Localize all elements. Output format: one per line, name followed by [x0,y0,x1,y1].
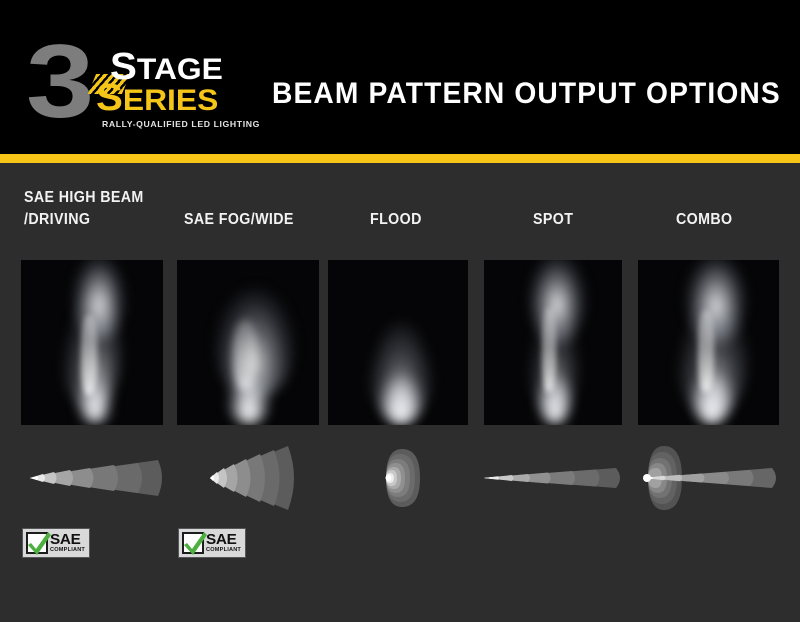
beam-pattern-infographic: 3 STAGE SERIES RALLY-QUALIFIED LED LIGHT… [0,0,800,622]
sae-compliant-badge-driving: SAE COMPLIANT [22,528,90,558]
beam-shape-flood [376,443,436,513]
check-icon [182,532,204,554]
logo-word-series: SERIES [96,83,218,116]
sae-badge-text: SAE COMPLIANT [50,532,85,554]
beam-diagram-sae-fog-wide [196,443,306,513]
column-label-sae-fog-wide: SAE FOG/WIDE [184,209,322,231]
logo-series-rest: ERIES [123,84,218,117]
check-glyph [26,529,52,557]
beam-shape-wide [196,443,306,513]
column-label-sae-high-beam-driving: SAE HIGH BEAM /DRIVING [24,187,171,231]
check-glyph [182,529,208,557]
sae-compliant-badge-fog-wide: SAE COMPLIANT [178,528,246,558]
beam-photo-flood [328,260,468,425]
beam-diagram-combo [630,443,782,513]
beam-diagram-spot [478,443,630,513]
sae-badge-sub: COMPLIANT [206,548,241,554]
logo-numeral-3: 3 [26,30,87,134]
beam-shape-combo [630,443,782,513]
stage-series-logo: 3 STAGE SERIES RALLY-QUALIFIED LED LIGHT… [26,28,266,133]
beam-diagram-sae-high-beam-driving [18,443,166,513]
beam-shape-driving [18,443,166,513]
beam-photo-sae-fog-wide [177,260,319,425]
column-label-flood: FLOOD [370,209,471,231]
sae-badge-word: SAE [50,532,86,547]
logo-word-stage: STAGE [110,52,223,85]
beam-photo-spot [484,260,622,425]
column-label-spot: SPOT [533,209,634,231]
logo-tagline: RALLY-QUALIFIED LED LIGHTING [102,119,260,129]
beam-photo-sae-high-beam-driving [21,260,163,425]
logo-series-cap: S [96,77,123,119]
sae-badge-text: SAE COMPLIANT [206,532,241,554]
logo-stage-rest: TAGE [137,53,223,86]
beam-shape-spot [478,443,630,513]
column-label-combo: COMBO [676,209,786,231]
page-title: BEAM PATTERN OUTPUT OPTIONS [272,77,781,111]
check-icon [26,532,48,554]
beam-diagram-flood [376,443,436,513]
column-header-row: SAE HIGH BEAM /DRIVING SAE FOG/WIDE FLOO… [0,185,800,247]
header-bar: 3 STAGE SERIES RALLY-QUALIFIED LED LIGHT… [0,0,800,154]
beam-photo-combo [638,260,779,425]
accent-divider [0,154,800,163]
sae-badge-word: SAE [206,532,242,547]
sae-badge-sub: COMPLIANT [50,548,85,554]
